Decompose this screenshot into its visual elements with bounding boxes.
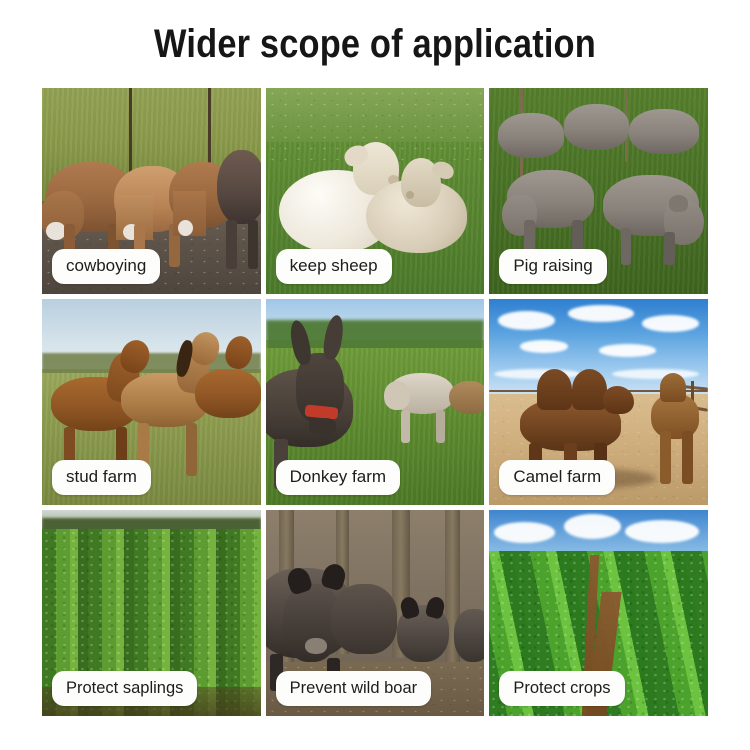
tile-label: keep sheep <box>276 249 392 284</box>
cow-muzzle <box>178 220 193 236</box>
tile-label: cowboying <box>52 249 160 284</box>
poster: Wider scope of application <box>0 0 750 750</box>
cow-leg <box>226 220 237 269</box>
pig <box>498 113 564 158</box>
donkey-leg <box>401 410 410 443</box>
tile-label: Pig raising <box>499 249 606 284</box>
tile-pig-raising[interactable]: Pig raising <box>489 88 708 294</box>
camel-hump <box>537 369 572 410</box>
tile-protect-saplings[interactable]: Protect saplings <box>42 510 261 716</box>
tile-label: Donkey farm <box>276 460 400 495</box>
pig <box>564 104 630 149</box>
tile-stud-farm[interactable]: stud farm <box>42 299 261 505</box>
cloud <box>599 344 656 356</box>
cow <box>217 150 261 224</box>
cloud <box>494 522 555 543</box>
donkey-head <box>384 381 410 410</box>
camel-leg <box>682 431 693 485</box>
tile-label: Protect crops <box>499 671 624 706</box>
donkey-leg <box>436 410 445 443</box>
cloud <box>568 305 634 321</box>
tile-camel-farm[interactable]: Camel farm <box>489 299 708 505</box>
donkey-muzzle <box>309 418 335 434</box>
wild-boar <box>331 584 397 654</box>
horse-leg <box>186 423 197 477</box>
cloud <box>520 340 568 352</box>
boar-snout <box>305 638 327 654</box>
tile-label: stud farm <box>52 460 151 495</box>
tile-prevent-wild-boar[interactable]: Prevent wild boar <box>266 510 485 716</box>
cloud <box>625 520 699 543</box>
horse <box>195 369 261 418</box>
cloud <box>564 514 621 539</box>
cow-leg <box>248 220 259 269</box>
cloud <box>642 315 699 331</box>
pig-leg <box>621 228 632 265</box>
tile-label: Protect saplings <box>52 671 197 706</box>
pig <box>629 109 699 154</box>
camel-leg <box>660 431 671 485</box>
camel-head <box>603 386 634 415</box>
pig-ear <box>669 195 689 211</box>
tile-label: Prevent wild boar <box>276 671 431 706</box>
application-grid: cowboying keep sheep <box>42 88 708 716</box>
tile-protect-crops[interactable]: Protect crops <box>489 510 708 716</box>
camel-hump <box>660 373 686 402</box>
donkey-background <box>449 381 484 414</box>
cloud <box>498 311 555 330</box>
wild-boar <box>454 609 485 663</box>
tile-donkey-farm[interactable]: Donkey farm <box>266 299 485 505</box>
pig-leg <box>664 232 675 265</box>
page-title: Wider scope of application <box>53 20 698 68</box>
tile-keep-sheep[interactable]: keep sheep <box>266 88 485 294</box>
tile-cowboying[interactable]: cowboying <box>42 88 261 294</box>
fence-post <box>129 88 132 183</box>
tile-label: Camel farm <box>499 460 615 495</box>
